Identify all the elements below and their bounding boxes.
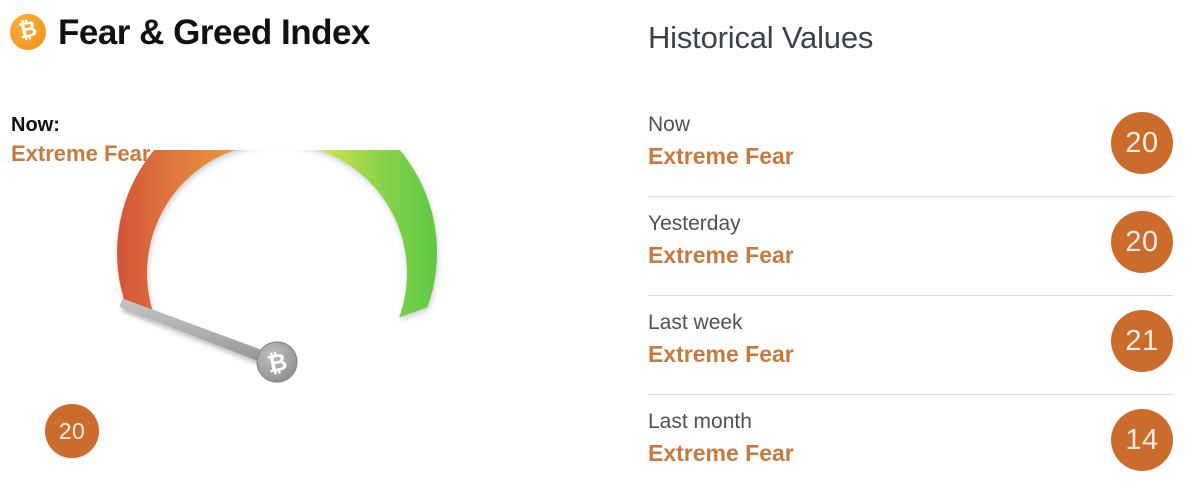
row-value-badge: 20 — [1111, 112, 1173, 174]
fear-greed-index-widget: ₿ Fear & Greed Index Now: Extreme Fear — [0, 0, 1200, 497]
row-value-text: 14 — [1125, 426, 1158, 455]
list-item[interactable]: Now Extreme Fear 20 — [648, 98, 1173, 197]
row-value-badge: 20 — [1111, 211, 1173, 273]
gauge-panel: ₿ Fear & Greed Index Now: Extreme Fear — [0, 0, 620, 497]
row-texts: Last week Extreme Fear — [648, 310, 794, 369]
row-value-text: 20 — [1125, 129, 1158, 158]
row-period: Yesterday — [648, 211, 794, 236]
row-period: Last month — [648, 409, 794, 434]
row-value-badge: 21 — [1111, 310, 1173, 372]
historical-values-list: Now Extreme Fear 20 Yesterday Extreme Fe… — [648, 98, 1173, 494]
row-texts: Now Extreme Fear — [648, 112, 794, 171]
gauge-chart: ₿ 20 — [0, 150, 560, 480]
gauge-arc-band — [117, 150, 437, 318]
bitcoin-glyph: ₿ — [17, 18, 39, 43]
bitcoin-needle-hub-icon: ₿ — [257, 342, 297, 382]
row-texts: Last month Extreme Fear — [648, 409, 794, 468]
page-header: ₿ Fear & Greed Index — [10, 14, 370, 50]
historical-values-panel: Historical Values Now Extreme Fear 20 Ye… — [648, 0, 1178, 497]
list-item[interactable]: Last month Extreme Fear 14 — [648, 395, 1173, 494]
row-value-text: 21 — [1125, 327, 1158, 356]
page-title: Fear & Greed Index — [58, 15, 370, 50]
list-item[interactable]: Last week Extreme Fear 21 — [648, 296, 1173, 395]
row-period: Now — [648, 112, 794, 137]
row-classification: Extreme Fear — [648, 341, 794, 369]
now-label: Now: — [11, 114, 150, 138]
historical-values-title: Historical Values — [648, 22, 873, 53]
list-item[interactable]: Yesterday Extreme Fear 20 — [648, 197, 1173, 296]
gauge-value-badge: 20 — [45, 404, 99, 458]
bitcoin-icon: ₿ — [10, 14, 46, 50]
row-texts: Yesterday Extreme Fear — [648, 211, 794, 270]
row-classification: Extreme Fear — [648, 143, 794, 171]
gauge-needle — [120, 299, 278, 369]
row-value-text: 20 — [1125, 228, 1158, 257]
row-value-badge: 14 — [1111, 409, 1173, 471]
gauge-value-text: 20 — [59, 420, 86, 443]
row-classification: Extreme Fear — [648, 440, 794, 468]
row-classification: Extreme Fear — [648, 242, 794, 270]
row-period: Last week — [648, 310, 794, 335]
